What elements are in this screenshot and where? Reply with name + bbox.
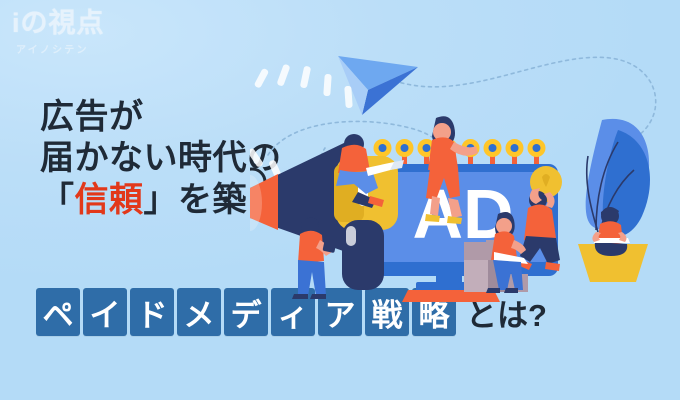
hero-banner-image: iの視点 アイノシテン 広告が 届かない時代の 「信頼」を築く ペ イ ド メ … [0, 0, 680, 400]
illustration: AD [250, 20, 680, 310]
banner-box-char: ペ [36, 288, 80, 336]
banner-box-char: イ [83, 288, 127, 336]
site-logo[interactable]: iの視点 アイノシテン [12, 10, 162, 58]
headline-bracket-open: 「 [40, 181, 75, 219]
banner-box-char: ド [130, 288, 174, 336]
banner-box-char: メ [177, 288, 221, 336]
logo-main-text: iの視点 [12, 10, 105, 37]
logo-sub-text: アイノシテン [16, 41, 89, 56]
headline-accent-word: 信頼 [75, 181, 144, 219]
